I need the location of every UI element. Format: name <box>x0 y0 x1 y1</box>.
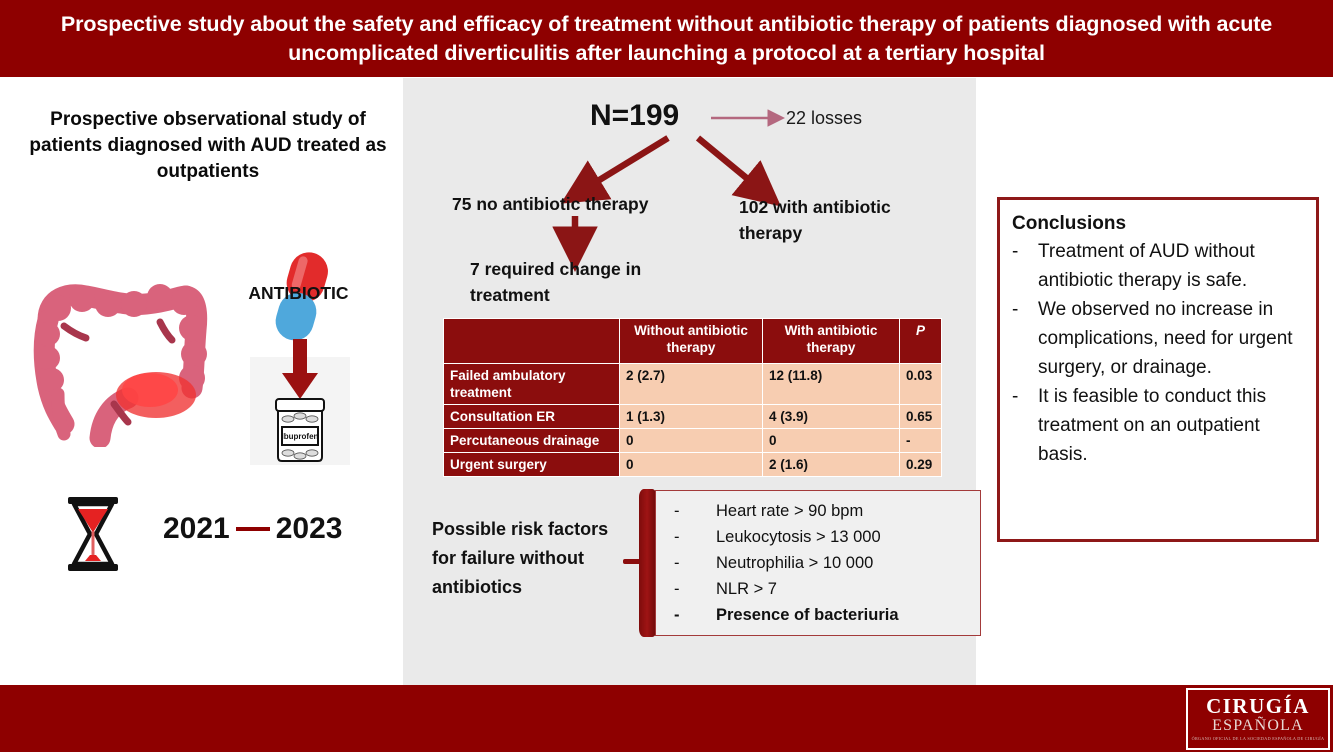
risk-bullet: - <box>674 498 716 524</box>
row-without-value: 0 <box>620 453 763 477</box>
conclusion-bullet: - <box>1012 295 1038 382</box>
row-p-value: - <box>900 429 942 453</box>
with-antibiotic-group: 102 with antibiotic therapy <box>739 194 919 246</box>
conclusion-item: - It is feasible to conduct this treatme… <box>1012 382 1306 469</box>
outcomes-table: Without antibiotic therapy With antibiot… <box>443 318 942 477</box>
risk-item-text: NLR > 7 <box>716 576 777 602</box>
row-p-value: 0.65 <box>900 405 942 429</box>
table-row: Urgent surgery 0 2 (1.6) 0.29 <box>444 453 942 477</box>
risk-item: - Heart rate > 90 bpm <box>656 498 980 524</box>
no-antibiotic-group: 75 no antibiotic therapy <box>452 194 648 215</box>
footer-bar <box>0 685 1333 752</box>
row-label: Urgent surgery <box>444 453 620 477</box>
row-with-value: 4 (3.9) <box>763 405 900 429</box>
risk-item: - Neutrophilia > 10 000 <box>656 550 980 576</box>
risk-item-text: Presence of bacteriuria <box>716 602 899 628</box>
row-with-value: 2 (1.6) <box>763 453 900 477</box>
total-patients-count: N=199 <box>590 99 679 133</box>
study-description-heading: Prospective observational study of patie… <box>22 107 394 185</box>
table-header-row: Without antibiotic therapy With antibiot… <box>444 319 942 364</box>
row-without-value: 1 (1.3) <box>620 405 763 429</box>
conclusions-box: Conclusions - Treatment of AUD without a… <box>997 197 1319 542</box>
conclusion-bullet: - <box>1012 237 1038 295</box>
risk-item: - NLR > 7 <box>656 576 980 602</box>
antibiotic-pill-and-bottle-icon: Ibuprofen <box>236 243 364 471</box>
row-with-value: 0 <box>763 429 900 453</box>
risk-factors-box: - Heart rate > 90 bpm - Leukocytosis > 1… <box>655 490 981 636</box>
table-col-header-p: P <box>900 319 942 364</box>
journal-logo-line3: ÓRGANO OFICIAL DE LA SOCIEDAD ESPAÑOLA D… <box>1192 736 1325 742</box>
risk-item-text: Leukocytosis > 13 000 <box>716 524 881 550</box>
conclusion-text: Treatment of AUD without antibiotic ther… <box>1038 237 1306 295</box>
page-title-bar: Prospective study about the safety and e… <box>0 0 1333 77</box>
conclusion-text: It is feasible to conduct this treatment… <box>1038 382 1306 469</box>
risk-item: - Leukocytosis > 13 000 <box>656 524 980 550</box>
study-period: 2021 2023 <box>163 512 343 546</box>
large-intestine-icon <box>28 262 213 447</box>
row-p-value: 0.29 <box>900 453 942 477</box>
antibiotic-label: ANTIBIOTIC <box>236 283 361 304</box>
hourglass-icon <box>63 495 123 573</box>
row-label: Percutaneous drainage <box>444 429 620 453</box>
required-change-group: 7 required change in treatment <box>470 256 670 308</box>
risk-bullet: - <box>674 524 716 550</box>
conclusion-text: We observed no increase in complications… <box>1038 295 1306 382</box>
journal-logo-line2: ESPAÑOLA <box>1212 717 1304 735</box>
row-without-value: 0 <box>620 429 763 453</box>
row-label: Failed ambulatory treatment <box>444 364 620 405</box>
row-without-value: 2 (2.7) <box>620 364 763 405</box>
year-end: 2023 <box>276 512 343 546</box>
losses-count: 22 losses <box>786 108 862 129</box>
conclusion-bullet: - <box>1012 382 1038 469</box>
row-p-value: 0.03 <box>900 364 942 405</box>
row-with-value: 12 (11.8) <box>763 364 900 405</box>
risk-bullet: - <box>674 602 716 628</box>
row-label: Consultation ER <box>444 405 620 429</box>
table-col-header-without: Without antibiotic therapy <box>620 319 763 364</box>
page-title: Prospective study about the safety and e… <box>22 10 1312 68</box>
table-row: Failed ambulatory treatment 2 (2.7) 12 (… <box>444 364 942 405</box>
table-row: Consultation ER 1 (1.3) 4 (3.9) 0.65 <box>444 405 942 429</box>
risk-item-text: Heart rate > 90 bpm <box>716 498 863 524</box>
journal-logo: CIRUGÍA ESPAÑOLA ÓRGANO OFICIAL DE LA SO… <box>1186 688 1330 750</box>
table-col-header-with: With antibiotic therapy <box>763 319 900 364</box>
year-start: 2021 <box>163 512 230 546</box>
risk-factors-label: Possible risk factors for failure withou… <box>432 515 627 602</box>
risk-bullet: - <box>674 576 716 602</box>
table-row: Percutaneous drainage 0 0 - <box>444 429 942 453</box>
svg-text:Ibuprofen: Ibuprofen <box>282 432 319 441</box>
conclusion-item: - We observed no increase in complicatio… <box>1012 295 1306 382</box>
risk-item-text: Neutrophilia > 10 000 <box>716 550 873 576</box>
table-col-header-blank <box>444 319 620 364</box>
risk-item: - Presence of bacteriuria <box>656 602 980 628</box>
risk-bullet: - <box>674 550 716 576</box>
conclusion-item: - Treatment of AUD without antibiotic th… <box>1012 237 1306 295</box>
year-range-dash <box>236 527 270 531</box>
journal-logo-line1: CIRUGÍA <box>1206 696 1310 717</box>
conclusions-title: Conclusions <box>1012 211 1306 237</box>
